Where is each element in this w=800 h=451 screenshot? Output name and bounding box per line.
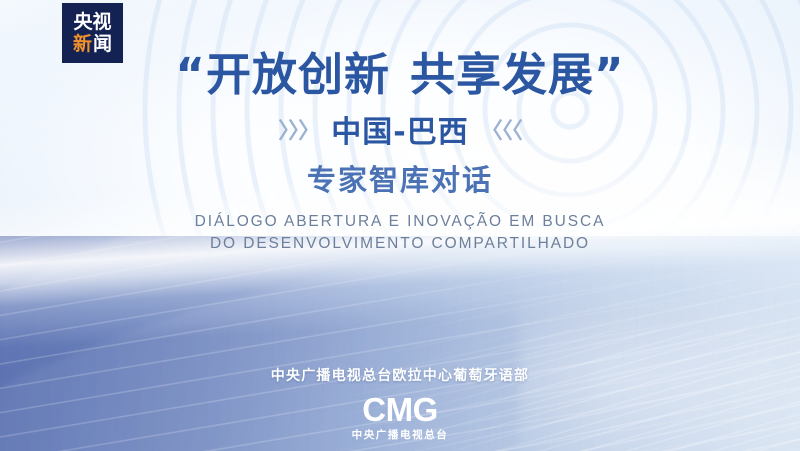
title-block: “开放创新共享发展” 〉〉〉 中国-巴西 〈〈〈 专家智库对话 DIÁLOGO … <box>0 52 800 256</box>
chevron-left-triple-icon: 〈〈〈 <box>481 113 522 145</box>
cmg-chinese-name: 中央广播电视总台 <box>352 430 449 441</box>
subtitle-portuguese-line-1: DIÁLOGO ABERTURA E INOVAÇÃO EM BUSCA <box>0 211 800 233</box>
subtitle-portuguese: DIÁLOGO ABERTURA E INOVAÇÃO EM BUSCA DO … <box>0 211 800 256</box>
cmg-logo: CMG 中央广播电视总台 <box>0 393 800 443</box>
poster-canvas: 央视 新 闻 “开放创新共享发展” 〉〉〉 中国-巴西 〈〈〈 专家智库对话 D… <box>0 0 800 451</box>
country-pair-row: 〉〉〉 中国-巴西 〈〈〈 <box>0 107 800 151</box>
subtitle-portuguese-line-2: DO DESENVOLVIMENTO COMPARTILHADO <box>0 233 800 255</box>
headline-open-quote: “ <box>175 48 206 101</box>
cctv-logo-line-1: 央视 <box>73 13 111 32</box>
headline-part-2: 共享发展 <box>410 48 594 101</box>
subtitle-chinese: 专家智库对话 <box>0 157 800 199</box>
chevron-right-triple-icon: 〉〉〉 <box>278 113 319 145</box>
country-pair-label: 中国-巴西 <box>331 107 468 151</box>
cmg-logo-mark: CMG 中央广播电视总台 <box>352 393 449 441</box>
cmg-wordmark: CMG <box>352 393 449 426</box>
department-credit: 中央广播电视总台欧拉中心葡萄牙语部 <box>0 365 800 385</box>
headline-part-1: 开放创新 <box>206 48 390 101</box>
headline-close-quote: ” <box>594 48 625 101</box>
headline: “开放创新共享发展” <box>0 52 800 99</box>
